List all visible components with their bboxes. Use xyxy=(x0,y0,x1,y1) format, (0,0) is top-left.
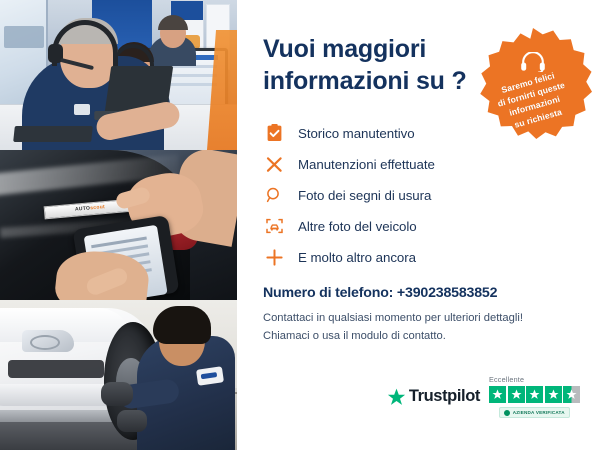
feature-item-altre-foto: Altre foto del veicolo xyxy=(263,212,574,240)
headline-line-1: Vuoi maggiori xyxy=(263,35,426,63)
trustpilot-rating: Eccellente xyxy=(489,375,580,418)
clipboard-check-icon xyxy=(263,123,285,143)
trustpilot-star-icon xyxy=(387,388,406,406)
contact-instructions: Contattaci in qualsiasi momento per ulte… xyxy=(263,309,574,345)
info-badge: Saremo felici di fornirti queste informa… xyxy=(474,28,592,146)
photo-car-inspection: AUTOscout xyxy=(0,150,237,300)
plus-icon xyxy=(263,247,285,267)
star-4 xyxy=(545,386,562,403)
verified-label: AZIENDA VERIFICATA xyxy=(513,410,565,415)
trustpilot-widget[interactable]: Trustpilot Eccellente xyxy=(387,375,580,418)
feature-item-molto-altro: E molto altro ancora xyxy=(263,243,574,271)
check-circle-icon xyxy=(504,410,510,416)
feature-item-foto-usura: Foto dei segni di usura xyxy=(263,181,574,209)
phone-number[interactable]: Numero di telefono: +390238583852 xyxy=(263,285,574,301)
photo-column: AUTOscout xyxy=(0,0,237,450)
star-2 xyxy=(508,386,525,403)
photo-call-center xyxy=(0,0,237,150)
trustpilot-logo: Trustpilot xyxy=(387,387,480,406)
car-frame-icon xyxy=(263,216,285,236)
trustpilot-stars xyxy=(489,386,580,403)
promo-panel: AUTOscout xyxy=(0,0,600,450)
magnifier-icon xyxy=(263,185,285,205)
trustpilot-rating-label: Eccellente xyxy=(489,375,524,384)
feature-item-manutenzioni: Manutenzioni effettuate xyxy=(263,150,574,178)
star-3 xyxy=(526,386,543,403)
feature-label: Storico manutentivo xyxy=(298,126,415,141)
headset-icon xyxy=(520,52,546,72)
content-panel: Vuoi maggiori informazioni su ? Saremo f… xyxy=(237,0,600,450)
contact-line-2: Chiamaci o usa il modulo di contatto. xyxy=(263,327,574,345)
star-1 xyxy=(489,386,506,403)
feature-label: Manutenzioni effettuate xyxy=(298,157,435,172)
page-title: Vuoi maggiori informazioni su ? xyxy=(263,34,473,97)
headline-line-2: informazioni su ? xyxy=(263,67,467,95)
feature-label: E molto altro ancora xyxy=(298,250,416,265)
trustpilot-name: Trustpilot xyxy=(409,387,480,406)
feature-label: Foto dei segni di usura xyxy=(298,188,431,203)
contact-line-1: Contattaci in qualsiasi momento per ulte… xyxy=(263,309,574,327)
feature-label: Altre foto del veicolo xyxy=(298,219,417,234)
photo-mechanic-wheel xyxy=(0,300,237,450)
wrench-screwdriver-icon xyxy=(263,154,285,174)
verified-badge: AZIENDA VERIFICATA xyxy=(499,407,570,418)
star-5 xyxy=(563,386,580,403)
